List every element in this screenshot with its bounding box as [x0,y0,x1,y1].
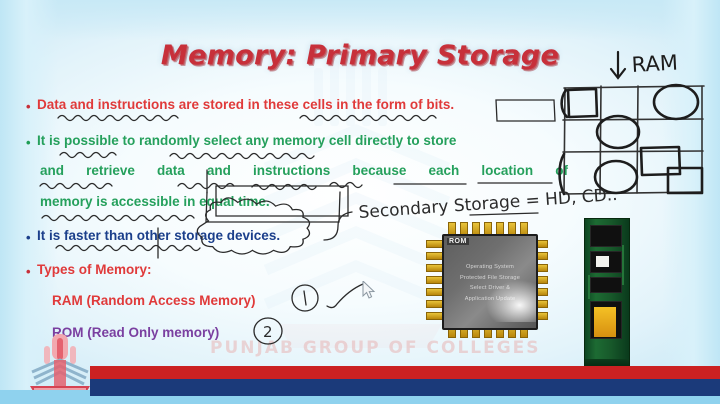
footer-bottom-strip [0,396,720,404]
chip-line-1: Operating System [444,262,536,273]
mouse-cursor-icon [362,281,376,299]
word: and [207,164,231,178]
bullet-text-2-line1: It is possible to randomly select any me… [37,134,456,148]
bullet-text-2-line2: and retrieve data and instructions becau… [40,164,568,178]
punjab-group-of-colleges-logo [24,332,96,398]
slide-canvas: PUNJAB GROUP OF COLLEGES Memory: Primary… [0,0,720,404]
bullet-item-1: • Data and instructions are stored in th… [26,98,454,113]
handwritten-circle-two-number: 2 [263,323,273,341]
bullet-text-4: Types of Memory: [37,263,152,277]
word: instructions [253,164,330,178]
page-title: Memory: Primary Storage [0,40,720,71]
bullet-text-3: It is faster than other storage devices. [37,229,280,243]
chip-glare [486,280,538,322]
word: because [352,164,406,178]
ram-module-white-label [596,256,609,267]
chip-body: ROM Operating System Protected File Stor… [442,234,538,330]
bullet-marker-1: • [26,98,37,113]
bullet-item-3: • It is faster than other storage device… [26,229,280,244]
word: each [428,164,459,178]
sub-item-ram: RAM (Random Access Memory) [52,294,256,308]
bullet-marker-4: • [26,263,37,278]
word: of [555,164,568,178]
background-top-gradient [0,0,720,40]
word: and [40,164,64,178]
bullet-text-1: Data and instructions are stored in thes… [37,98,454,112]
word: data [157,164,185,178]
bullet-marker-2: • [26,134,37,149]
bullet-marker-3: • [26,229,37,244]
chip-badge-label: ROM [447,238,469,245]
rom-chip-image: ROM Operating System Protected File Stor… [426,222,548,338]
handwritten-secondary-storage-note: Secondary Storage = HD, CD.. [358,185,618,223]
word: location [481,164,533,178]
ram-module-image [584,218,630,368]
word: retrieve [86,164,135,178]
footer-bar-navy [90,379,720,396]
bullet-item-2: • It is possible to randomly select any … [26,134,456,149]
watermark-text: PUNJAB GROUP OF COLLEGES [210,338,540,364]
bullet-text-2-line3: memory is accessible in equal time. [40,195,270,209]
footer-bar-red [90,366,720,379]
ram-module-sticker [594,307,616,337]
bullet-item-4: • Types of Memory: [26,263,152,278]
